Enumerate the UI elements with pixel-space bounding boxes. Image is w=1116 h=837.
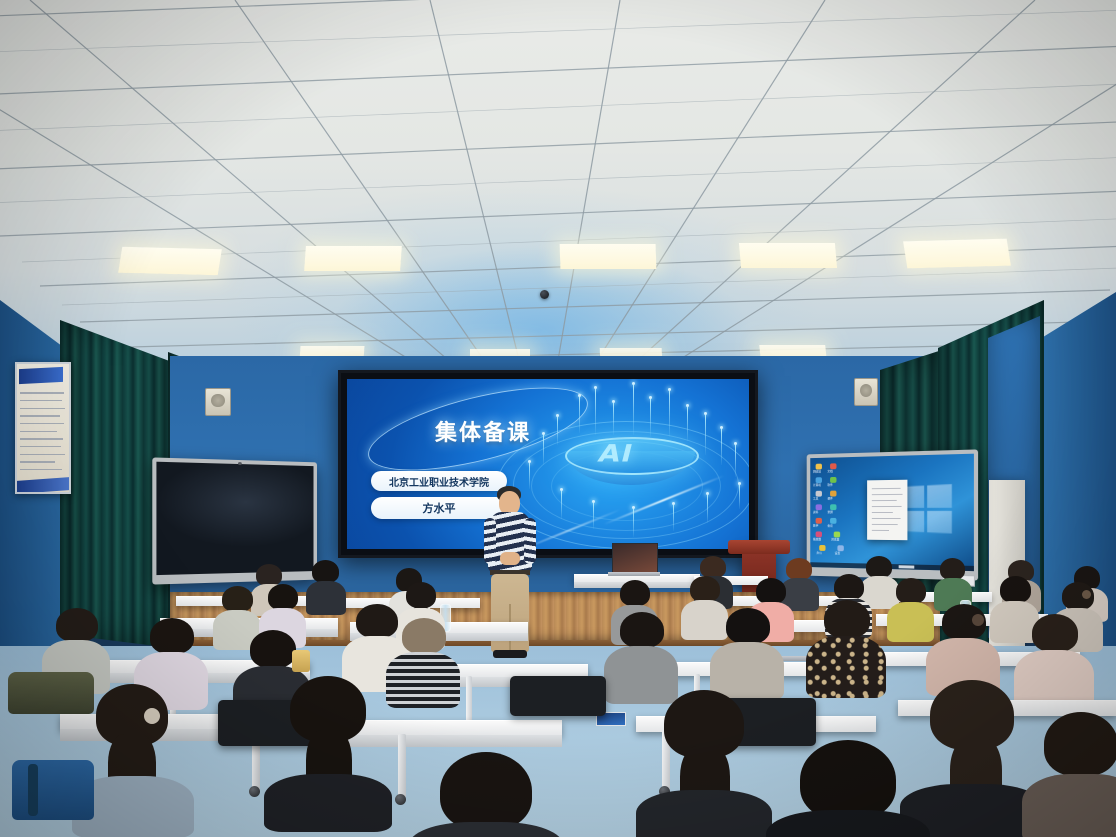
desk-caster [395,794,406,805]
slide-particle-dot [734,442,737,445]
slide-particle-dot [738,482,741,485]
slide-particle [705,415,706,455]
cup [292,650,310,672]
desktop-icon-label: 播放器 [813,538,821,541]
desktop-icon-label: 会议 [827,525,832,528]
slide-particle-dot [592,500,595,503]
slide-particle-dot [704,412,707,415]
slide-particle-dot [720,426,723,429]
slide-particle [595,389,596,435]
slide-particle-dot [686,404,689,407]
ceiling-light-panel [903,239,1011,269]
presenter-arm-left [484,518,496,564]
slide-particle-dot [632,506,635,509]
ceiling-light-panel [118,247,222,276]
backpack-strap [28,764,38,816]
ceiling-grid [0,0,1116,372]
left-smart-display[interactable] [152,457,317,584]
handbag [8,672,94,714]
slide-particle-dot [594,386,597,389]
slide-particle [593,503,594,529]
slide-particle [687,407,688,441]
wall-speaker-icon [205,388,231,416]
slide-surface: AI [347,379,749,549]
backpack [12,760,94,820]
ceiling-camera-icon [540,290,549,299]
slide-particle [633,385,634,435]
suspended-ceiling [0,0,1116,372]
slide-title: 集体备课 [435,415,531,447]
slide-particle-dot [528,460,531,463]
slide-particle-dot [706,492,709,495]
desktop-icon-label: 办公 [817,552,822,555]
hair-clip [972,614,984,626]
slide-particle-dot [649,396,652,399]
presenter-arm-right [524,518,536,564]
lectern-top [728,540,790,554]
left-display-screen [156,462,313,575]
desktop-icon-label: 录屏 [827,511,832,514]
slide-particle [561,491,562,519]
wall-speaker-icon [854,378,878,406]
slide-particle-dot [578,394,581,397]
poster-footer-band [17,477,69,493]
slide-ai-glyph: AI [596,439,637,467]
slide-particle [721,429,722,465]
ceiling-light-panel [560,244,657,269]
slide-particle [707,495,708,523]
desktop-icon-label: 教学 [813,525,818,528]
desk-caster [249,786,260,797]
slide-particle [633,509,634,537]
desk-leg [398,734,406,798]
slide-particle [543,435,544,465]
document-window[interactable] [867,480,907,541]
classroom-photo-scene: AI [0,0,1116,837]
presenter-shoes [493,650,527,658]
wall-poster [15,362,71,494]
desktop-icon-label: 课件 [827,497,832,500]
ceiling-light-panel [739,243,837,268]
slide-particle [579,397,580,433]
desktop-icon-label: 设置 [835,552,841,555]
desktop-icon-label: 资料 [813,511,818,514]
desktop-icon-label: 回收站 [813,470,821,473]
hair-clip [1082,590,1091,599]
taskbar-button[interactable] [899,565,915,568]
desktop-icon-label: 文档 [827,470,832,473]
right-display-screen: 回收站 文档 计算机 软件 工具 课件 资料 录屏 教学 会议 播放器 浏览器 [810,454,974,571]
chair-back [510,676,606,716]
main-led-screen: AI [338,370,758,558]
slide-particle [739,485,740,509]
laptop-screen[interactable] [612,543,658,575]
laptop-base [608,572,660,576]
audience-desk-front [326,735,562,747]
slide-particle-dot [560,488,563,491]
windows-logo-icon [901,484,952,534]
slide-particle-dot [672,502,675,505]
poster-header-band [19,367,63,385]
ceiling-light-panel [304,246,402,271]
slide-particle-dot [632,382,635,385]
slide-particle [557,417,558,445]
slide-particle [735,445,736,477]
desktop-icon-label: 工具 [813,498,818,501]
desktop-icon-label: 计算机 [813,484,821,487]
desktop-icon-label: 软件 [827,484,832,487]
desktop-icon-label: 浏览器 [831,538,839,541]
slide-particle-dot [542,432,545,435]
slide-particle [613,403,614,435]
slide-particle [650,399,651,437]
slide-particle-dot [668,388,671,391]
slide-particle-dot [556,414,559,417]
slide-particle-dot [612,400,615,403]
presenter-hands [500,552,520,565]
hair-clip [144,708,160,724]
slide-particle [669,391,670,437]
left-display-camera-icon [238,462,242,465]
slide-particle [673,505,674,531]
